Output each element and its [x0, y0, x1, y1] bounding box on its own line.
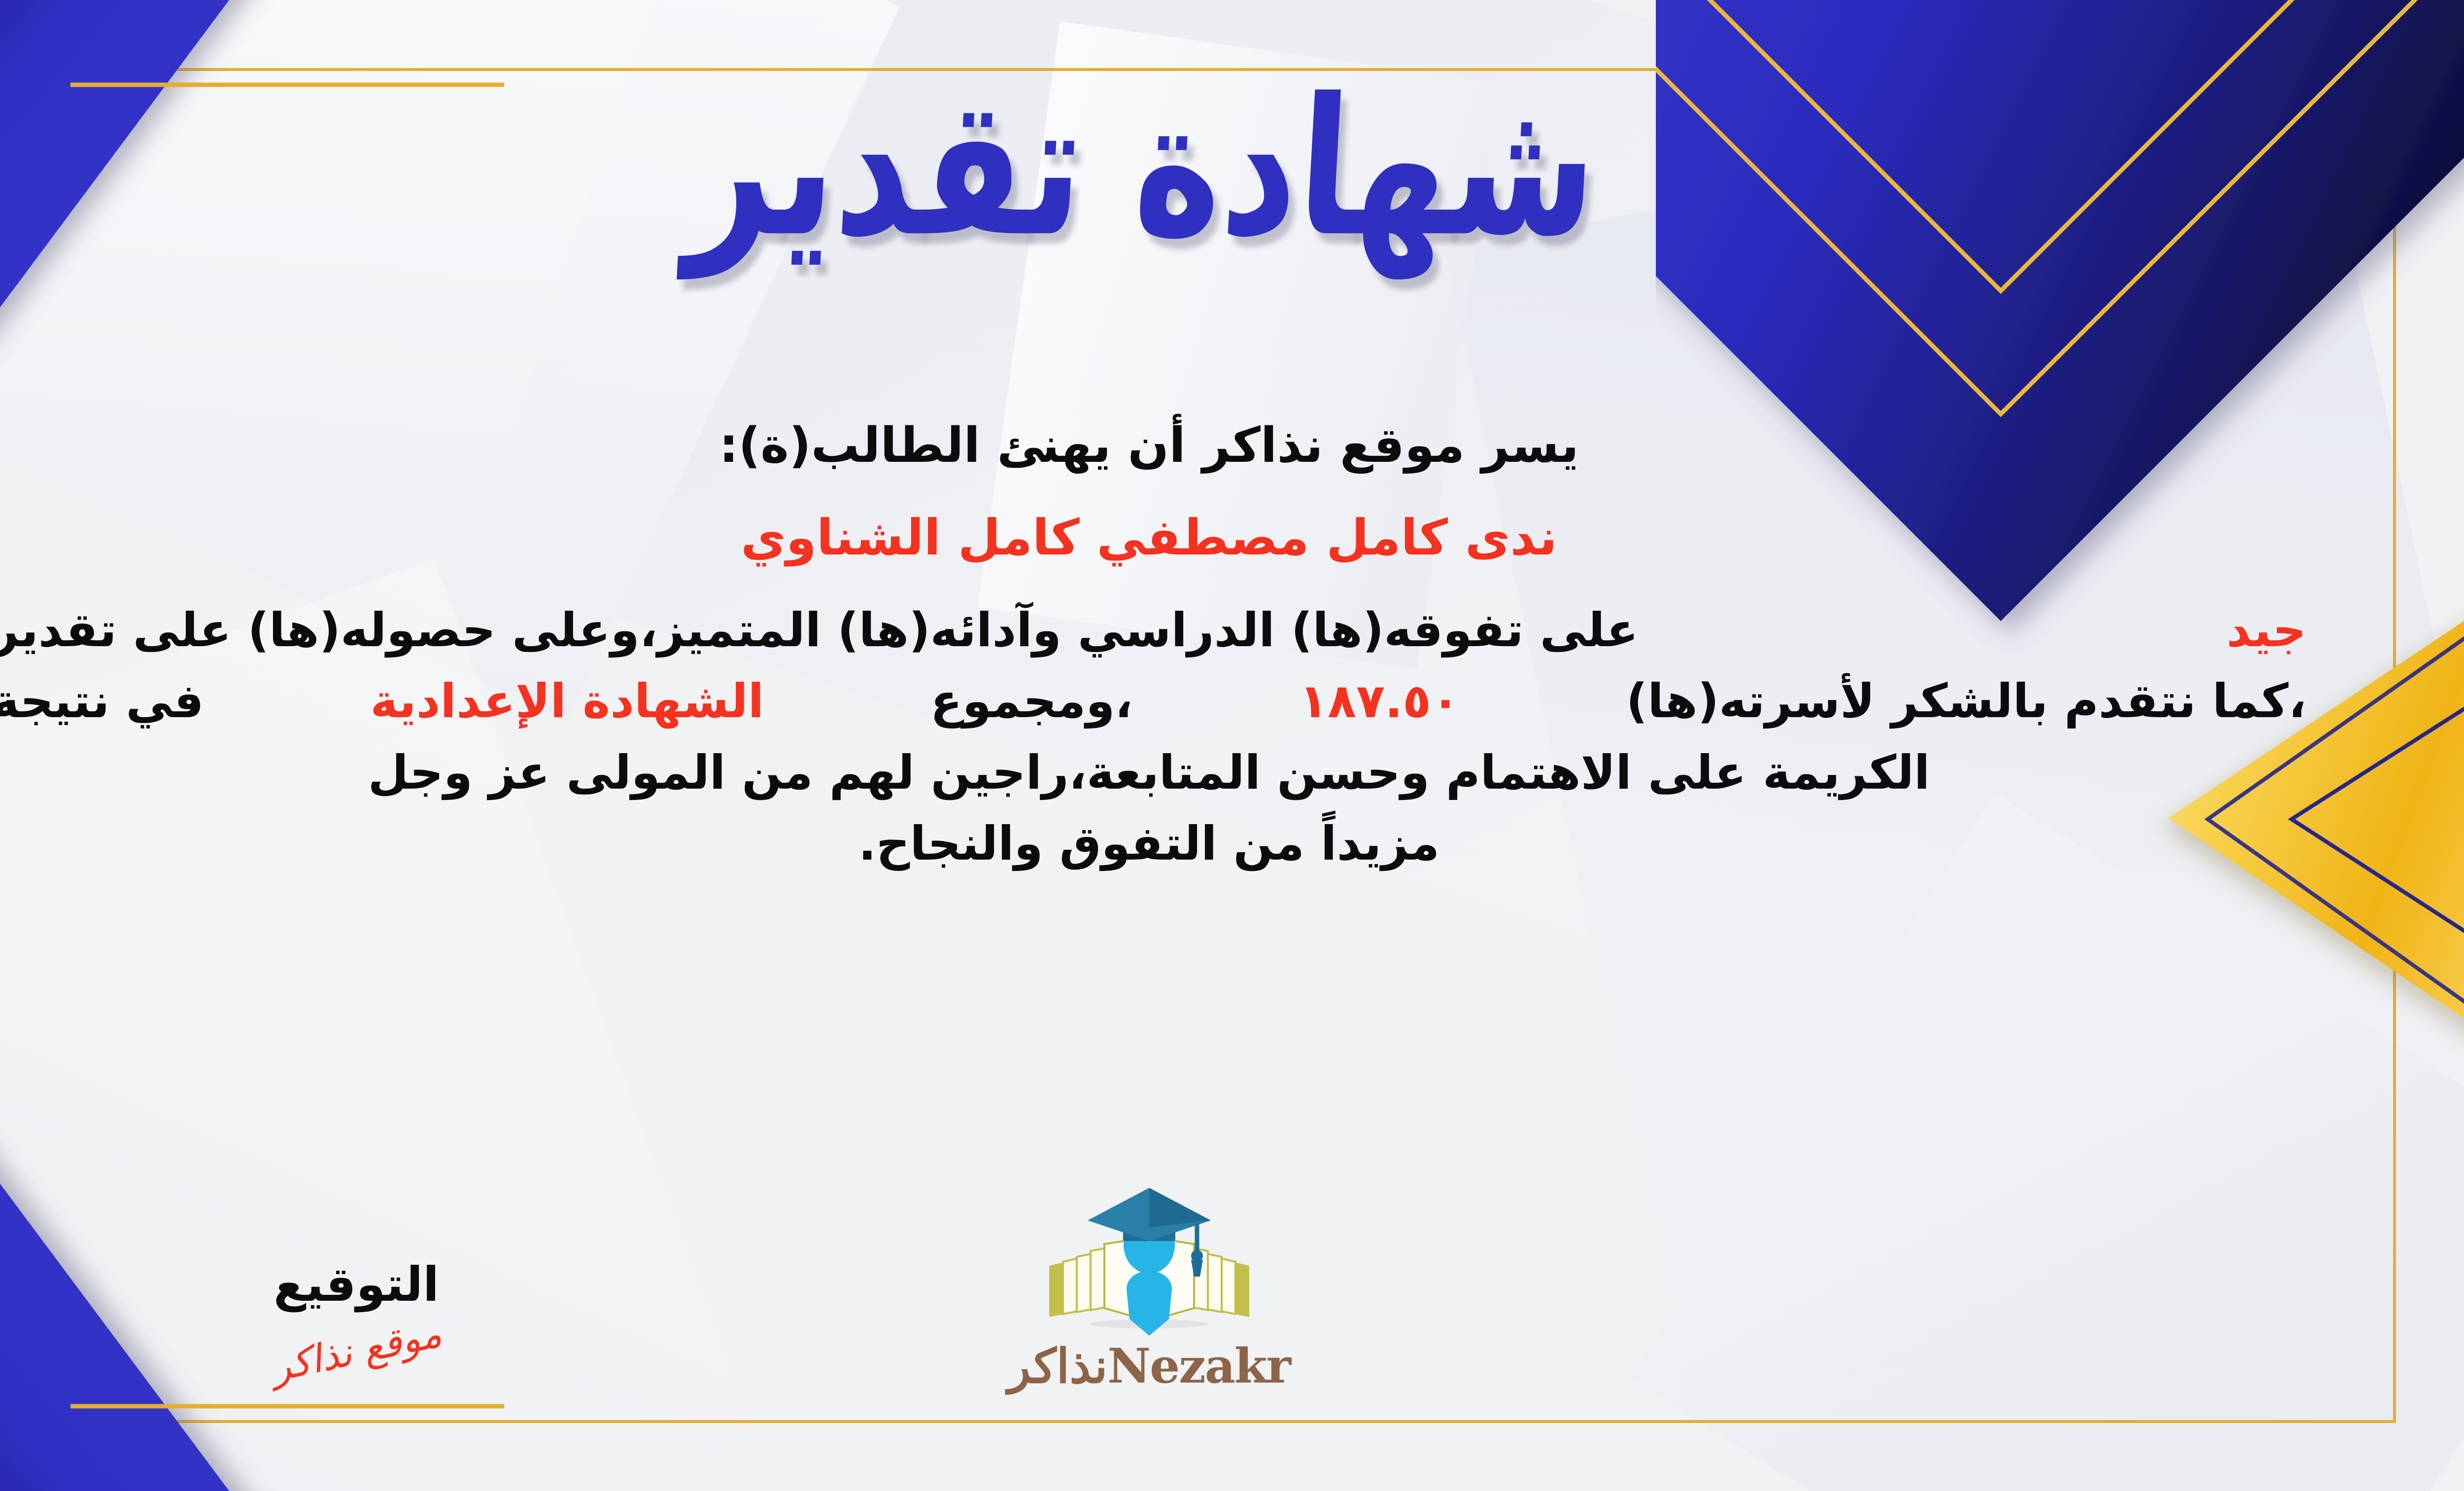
student-name: ندى كامل مصطفي كامل الشناوي [0, 500, 2306, 575]
logo-text: Nezakrنذاكر [977, 1343, 1322, 1390]
closing-line: مزيداً من التفوق والنجاح. [0, 808, 2306, 879]
signature-mark: موقع نذاكر [268, 1314, 445, 1387]
intro-line: يسر موقع نذاكر أن يهنئ الطالب(ة): [0, 409, 2306, 483]
thanks-text: ،كما نتقدم بالشكر لأسرته(ها) [1626, 666, 2306, 737]
family-thanks-line: الكريمة على الاهتمام وحسن المتابعة،راجين… [0, 737, 2306, 808]
total-score: ١٨٧.٥٠ [1299, 666, 1460, 737]
achievement-line: جيد على تفوقه(ها) الدراسي وآدائه(ها) الم… [0, 595, 2306, 666]
certificate-type: الشهادة الإعدادية [370, 666, 764, 737]
achievement-text: على تفوقه(ها) الدراسي وآدائه(ها) المتميز… [0, 595, 1639, 666]
total-label: ،ومجموع [930, 666, 1133, 737]
result-line: ،كما نتقدم بالشكر لأسرته(ها) ١٨٧.٥٠ ،ومج… [0, 666, 2306, 737]
site-logo: Nezakrنذاكر [977, 1178, 1322, 1390]
grade-value: جيد [2226, 595, 2306, 666]
certificate-body: يسر موقع نذاكر أن يهنئ الطالب(ة): ندى كا… [0, 409, 2306, 880]
signature-area: التوقيع موقع نذاكر [204, 1261, 509, 1370]
signature-label: التوقيع [204, 1261, 509, 1308]
page-title: شهادة تقدير [683, 59, 1603, 277]
certificate-title-area: شهادة تقدير [0, 59, 2464, 229]
graduate-book-logo-icon [1043, 1178, 1255, 1341]
certificate-footer: التوقيع موقع نذاكر [0, 1124, 2351, 1400]
certificate-page: شهادة تقدير يسر موقع نذاكر أن يهنئ الطال… [0, 0, 2464, 1491]
result-prefix: في نتيجة [0, 666, 204, 737]
